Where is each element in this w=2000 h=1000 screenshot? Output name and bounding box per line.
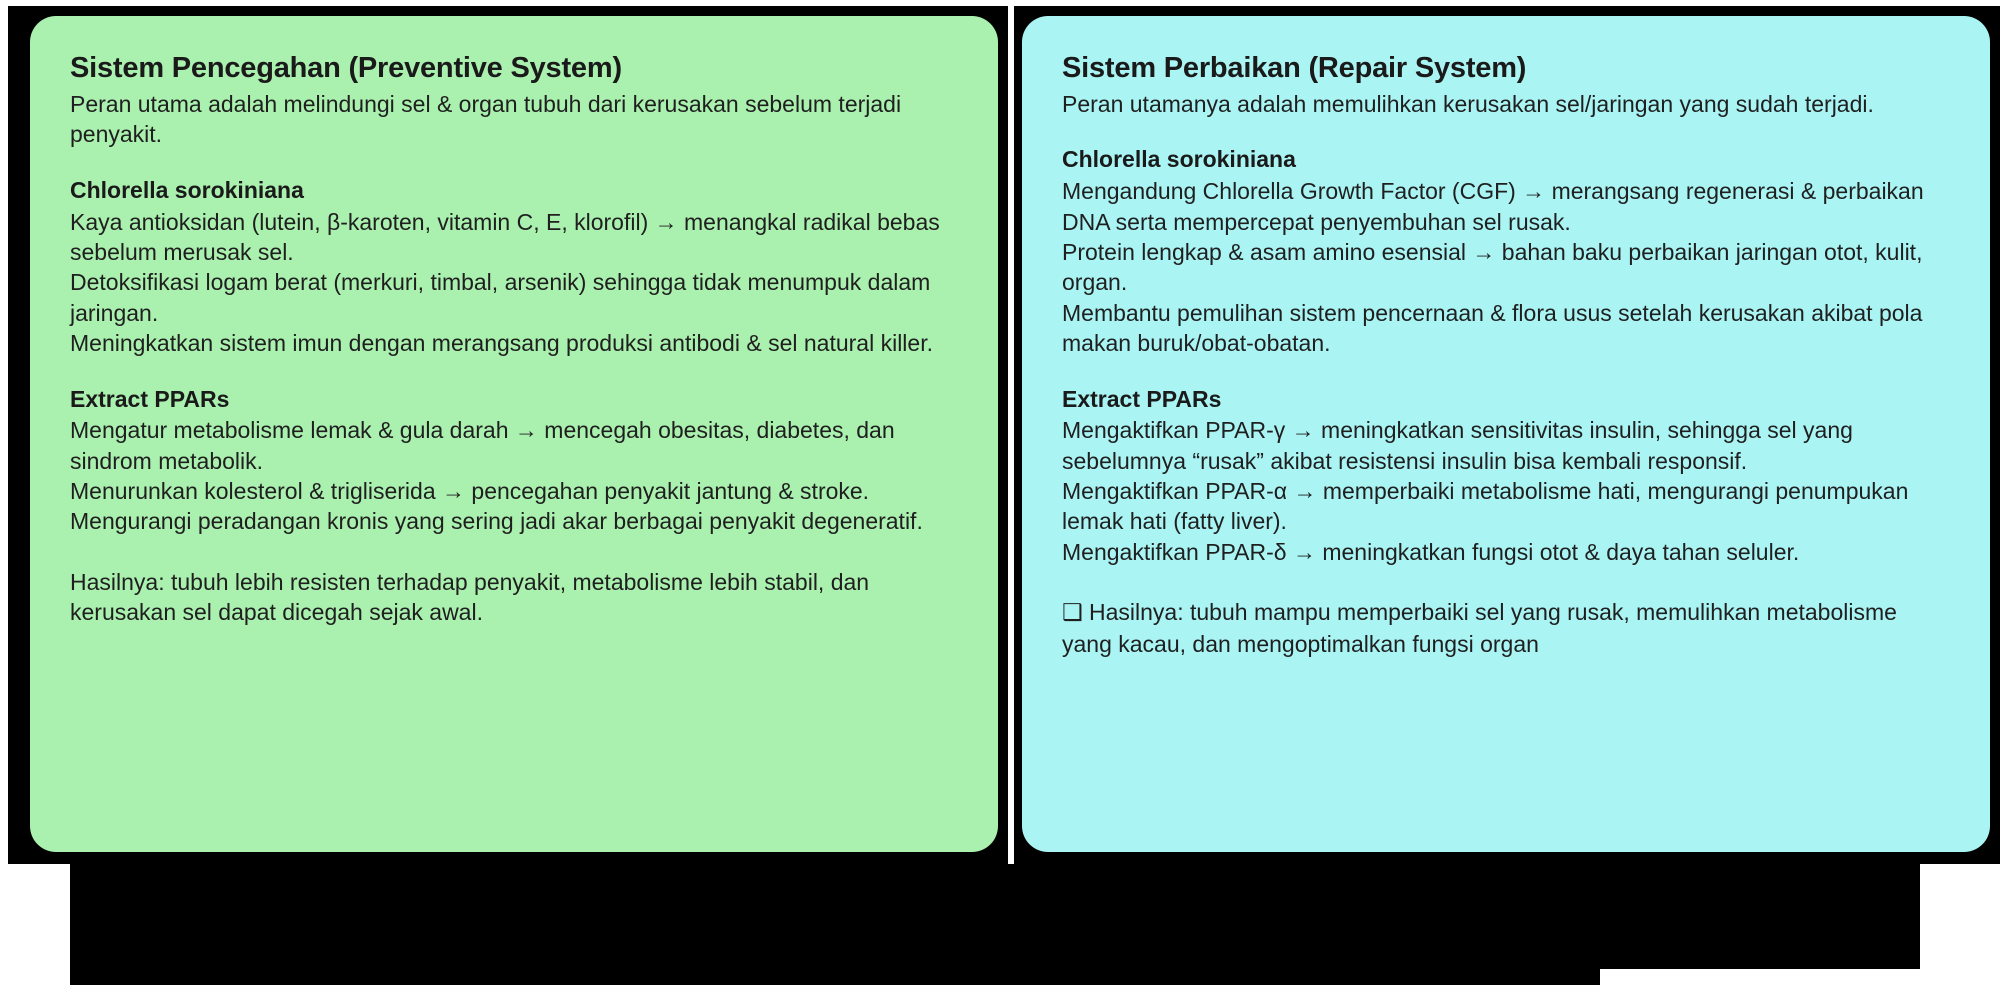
section-line: Kaya antioksidan (lutein, β-karoten, vit… [70, 207, 958, 268]
slide-canvas: Sistem Pencegahan (Preventive System) Pe… [0, 0, 2000, 1000]
section-chlorella-preventive: Chlorella sorokiniana Kaya antioksidan (… [70, 176, 958, 359]
missing-glyph-icon: ❑ [1062, 600, 1083, 626]
card-preventive-subtitle: Peran utama adalah melindungi sel & orga… [70, 89, 958, 150]
section-line: Mengaktifkan PPAR-α → memperbaiki metabo… [1062, 476, 1950, 537]
section-line: Menurunkan kolesterol & trigliserida → p… [70, 476, 958, 506]
section-heading-ppars: Extract PPARs [70, 385, 958, 415]
section-line: Detoksifikasi logam berat (merkuri, timb… [70, 267, 958, 328]
section-chlorella-repair: Chlorella sorokiniana Mengandung Chlorel… [1062, 145, 1950, 358]
section-line: Mengandung Chlorella Growth Factor (CGF)… [1062, 176, 1950, 237]
card-preventive-system: Sistem Pencegahan (Preventive System) Pe… [30, 16, 998, 852]
card-repair-system: Sistem Perbaikan (Repair System) Peran u… [1022, 16, 1990, 852]
section-line: Mengaktifkan PPAR-γ → meningkatkan sensi… [1062, 415, 1950, 476]
card-preventive-title: Sistem Pencegahan (Preventive System) [70, 50, 958, 87]
section-heading-chlorella: Chlorella sorokiniana [1062, 145, 1950, 175]
section-ppars-preventive: Extract PPARs Mengatur metabolisme lemak… [70, 385, 958, 537]
section-line: Meningkatkan sistem imun dengan merangsa… [70, 328, 958, 358]
section-line: Mengaktifkan PPAR-δ → meningkatkan fungs… [1062, 537, 1950, 567]
card-repair-conclusion-text: Hasilnya: tubuh mampu memperbaiki sel ya… [1062, 599, 1897, 656]
section-heading-chlorella: Chlorella sorokiniana [70, 176, 958, 206]
section-ppars-repair: Extract PPARs Mengaktifkan PPAR-γ → meni… [1062, 385, 1950, 568]
section-line: Mengurangi peradangan kronis yang sering… [70, 506, 958, 536]
section-heading-ppars: Extract PPARs [1062, 385, 1950, 415]
card-preventive-conclusion: Hasilnya: tubuh lebih resisten terhadap … [70, 567, 958, 628]
section-line: Protein lengkap & asam amino esensial → … [1062, 237, 1950, 298]
card-repair-title: Sistem Perbaikan (Repair System) [1062, 50, 1950, 87]
section-line: Mengatur metabolisme lemak & gula darah … [70, 415, 958, 476]
card-repair-subtitle: Peran utamanya adalah memulihkan kerusak… [1062, 89, 1950, 119]
black-plate-bottom-secondary [70, 930, 1600, 985]
section-line: Membantu pemulihan sistem pencernaan & f… [1062, 298, 1950, 359]
card-repair-conclusion: ❑ Hasilnya: tubuh mampu memperbaiki sel … [1062, 597, 1950, 659]
